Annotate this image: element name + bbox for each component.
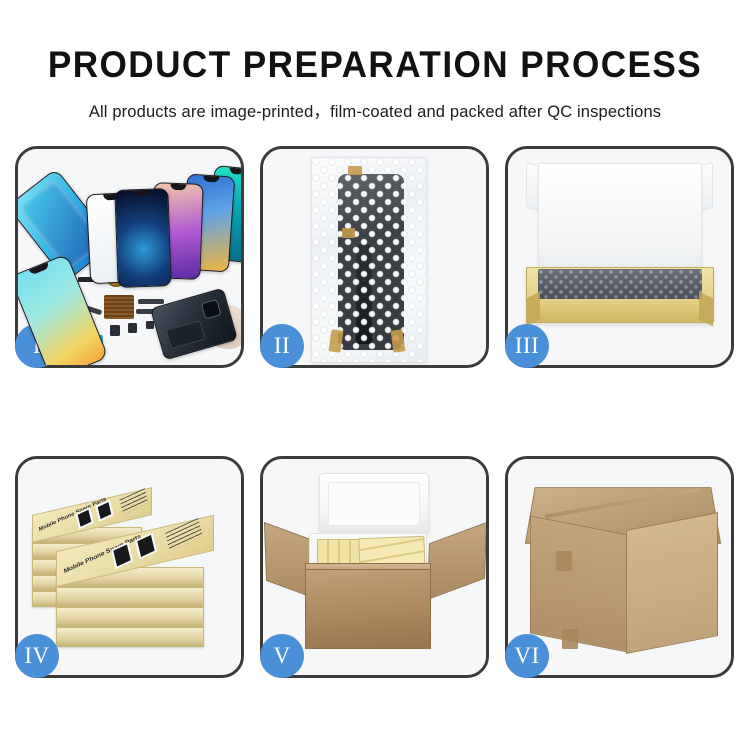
process-steps-grid: I II	[15, 146, 735, 678]
ic-chip-b	[110, 325, 120, 336]
product-preparation-process-page: PRODUCT PREPARATION PROCESS All products…	[0, 0, 750, 750]
tape-piece-a	[348, 166, 362, 175]
step-panel-3[interactable]: III	[505, 146, 734, 368]
phone-plasma-wallpaper	[114, 188, 171, 288]
step-panel-6[interactable]: VI	[505, 456, 734, 678]
ic-chip-c	[128, 323, 137, 333]
carton-tape-tab-bottom	[562, 629, 578, 649]
step-panel-5[interactable]: V	[260, 456, 489, 678]
carton-flap-right	[427, 522, 486, 600]
flex-cable-a	[138, 299, 164, 304]
carton-left-face	[530, 515, 628, 652]
step-number-badge-4: IV	[15, 634, 59, 678]
tape-piece-b	[342, 228, 355, 238]
page-subtitle: All products are image-printed，film-coat…	[0, 98, 750, 122]
page-header: PRODUCT PREPARATION PROCESS All products…	[0, 0, 750, 122]
foam-box-lid	[319, 473, 429, 535]
stack-box-r3	[56, 607, 204, 627]
step-number-badge-5: V	[260, 634, 304, 678]
step-number-badge-2: II	[260, 324, 304, 368]
bubble-wrap-bag	[311, 157, 427, 363]
box-white-lid	[538, 163, 702, 279]
bubble-texture	[312, 158, 426, 362]
stack-box-r2	[56, 587, 204, 607]
page-title: PRODUCT PREPARATION PROCESS	[19, 44, 732, 86]
stack-box-r4	[56, 627, 204, 647]
bubble-wrapped-contents	[538, 269, 702, 299]
ic-chip-d	[146, 321, 154, 329]
step-number-badge-6: VI	[505, 634, 549, 678]
step-number-badge-3: III	[505, 324, 549, 368]
box-text-lines-back	[120, 488, 149, 514]
phone-parts-scene	[18, 149, 241, 365]
box-stack: Mobile Phone Spare Parts Mobile Phone Sp…	[26, 475, 234, 663]
shield-grid-chip	[104, 295, 134, 319]
carton-right-face	[626, 512, 718, 654]
step-panel-2[interactable]: II	[260, 146, 489, 368]
step-panel-4[interactable]: Mobile Phone Spare Parts Mobile Phone Sp…	[15, 456, 244, 678]
carton-tape-tab-top	[556, 551, 572, 571]
step-panel-1[interactable]: I	[15, 146, 244, 368]
step-image-1	[18, 149, 241, 365]
carton-front-face	[305, 569, 431, 649]
box-text-lines-front	[165, 518, 203, 552]
